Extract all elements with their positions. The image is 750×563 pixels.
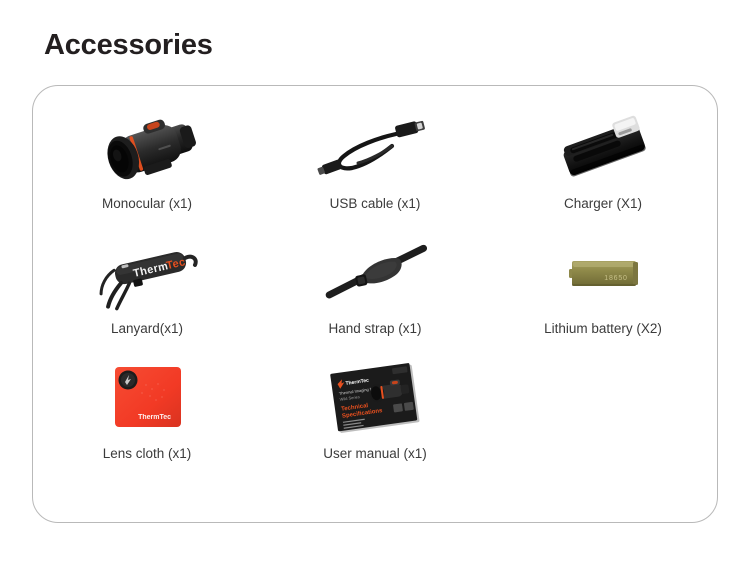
accessories-card: Monocular (x1)	[32, 85, 718, 523]
accessory-item-lanyard[interactable]: Therm Tec	[33, 233, 261, 358]
accessory-label: Lanyard(x1)	[111, 322, 183, 336]
accessory-item-charger[interactable]: Charger (X1)	[489, 108, 717, 233]
accessory-item-lens-cloth[interactable]: ThermTec Lens cloth (x1)	[33, 358, 261, 483]
accessory-item-hand-strap[interactable]: Hand strap (x1)	[261, 233, 489, 358]
accessories-page: Accessories	[0, 0, 750, 563]
battery-model-text: 18650	[604, 275, 627, 282]
hand-strap-icon	[300, 233, 450, 317]
usb-cable-icon	[300, 108, 450, 192]
accessory-item-usb-cable[interactable]: USB cable (x1)	[261, 108, 489, 233]
lithium-battery-icon: 18650	[528, 233, 678, 317]
user-manual-icon: ThermTec Thermal Imaging Monocular Wild …	[300, 358, 450, 442]
lens-cloth-icon: ThermTec	[72, 358, 222, 442]
charger-icon	[528, 108, 678, 192]
accessory-item-user-manual[interactable]: ThermTec Thermal Imaging Monocular Wild …	[261, 358, 489, 483]
lanyard-icon: Therm Tec	[72, 233, 222, 317]
page-title: Accessories	[44, 28, 213, 63]
accessory-grid-empty-slot	[489, 358, 717, 483]
accessory-label: Lens cloth (x1)	[103, 447, 192, 461]
accessory-label: User manual (x1)	[323, 447, 427, 461]
accessories-grid: Monocular (x1)	[33, 108, 717, 483]
accessory-label: Monocular (x1)	[102, 197, 192, 211]
monocular-icon	[72, 108, 222, 192]
accessory-label: Hand strap (x1)	[328, 322, 421, 336]
lens-cloth-brand-text: ThermTec	[138, 414, 171, 421]
accessory-label: USB cable (x1)	[330, 197, 421, 211]
accessory-item-lithium-battery[interactable]: 18650 Lithium battery (X2)	[489, 233, 717, 358]
accessory-label: Charger (X1)	[564, 197, 642, 211]
accessory-label: Lithium battery (X2)	[544, 322, 662, 336]
accessory-item-monocular[interactable]: Monocular (x1)	[33, 108, 261, 233]
